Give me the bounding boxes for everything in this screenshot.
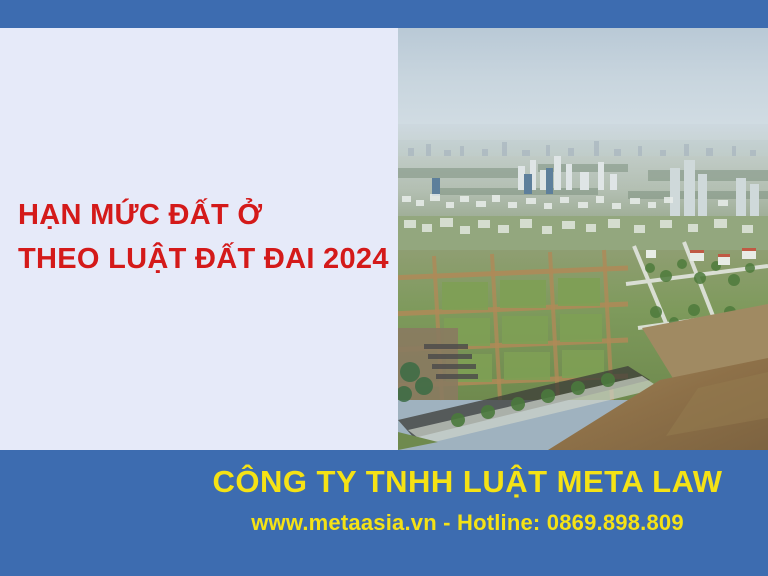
banner-text-block: CÔNG TY TNHH LUẬT META LAW www.metaasia.… — [175, 462, 760, 540]
headline-line-1: HẠN MỨC ĐẤT Ở — [18, 193, 390, 237]
poster-root: HẠN MỨC ĐẤT Ở THEO LUẬT ĐẤT ĐAI 2024 — [0, 0, 768, 576]
footer-banner: ĐOÀN LUẬT SƯ THÀNH PHỐ HÀ NỘI META LAW F… — [0, 450, 768, 576]
contact-line: www.metaasia.vn - Hotline: 0869.898.809 — [175, 506, 760, 540]
headline-line-2: THEO LUẬT ĐẤT ĐAI 2024 — [18, 237, 390, 281]
aerial-photo — [398, 28, 768, 450]
company-name: CÔNG TY TNHH LUẬT META LAW — [175, 462, 760, 502]
page-title: HẠN MỨC ĐẤT Ở THEO LUẬT ĐẤT ĐAI 2024 — [18, 193, 390, 281]
